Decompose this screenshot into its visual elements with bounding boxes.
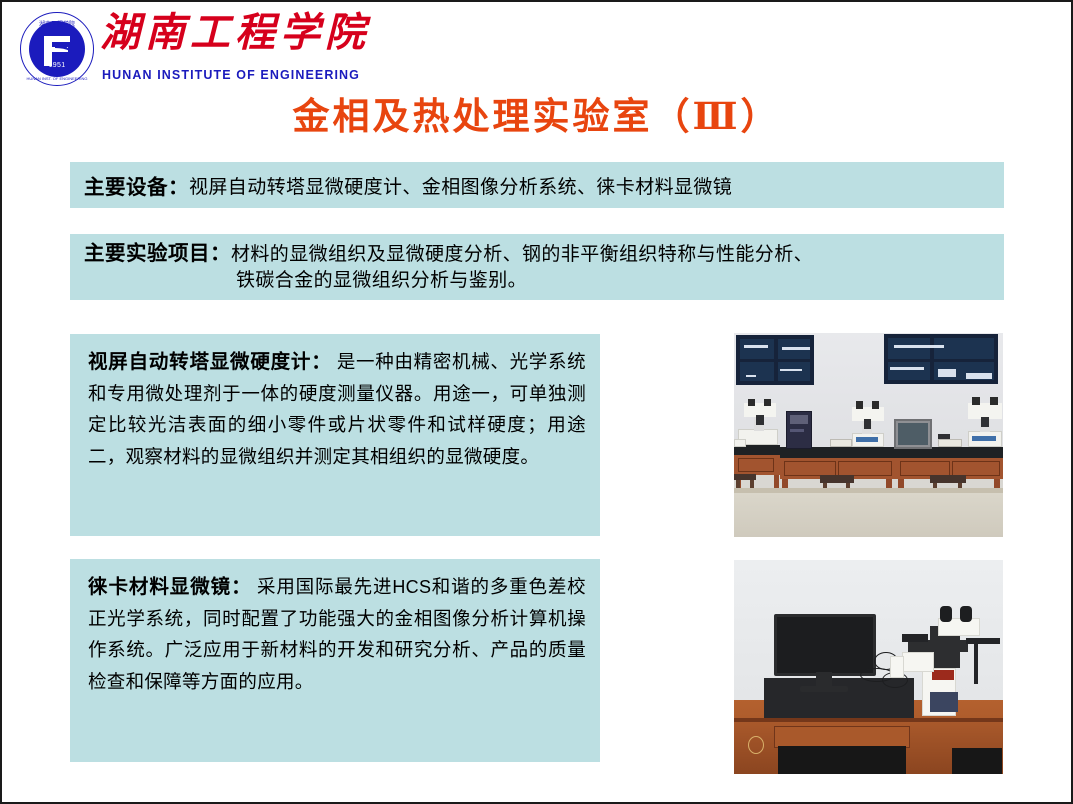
leica-label: 徕卡材料显微镜：: [88, 575, 252, 598]
seal-monogram-icon: 湖南工程学院 HUNAN INST. OF ENGINEERING: [20, 12, 94, 86]
logo-english-name: HUNAN INSTITUTE OF ENGINEERING: [102, 68, 360, 82]
main-projects-text-line2: 铁碳合金的显微组织分析与鉴别。: [236, 267, 994, 294]
leica-latin-text: HCS: [392, 577, 431, 597]
main-projects-label: 主要实验项目：: [84, 241, 231, 266]
main-equipment-box: 主要设备： 视屏自动转塔显微硬度计、金相图像分析系统、徕卡材料显微镜: [70, 162, 1004, 208]
main-equipment-label: 主要设备：: [84, 170, 189, 200]
main-projects-box: 主要实验项目： 材料的显微组织及显微硬度分析、钢的非平衡组织特称与性能分析、 铁…: [70, 234, 1004, 300]
lab-bench-photo: [734, 333, 1003, 537]
microscope-desk-photo: [734, 560, 1003, 774]
page-title: 金相及热处理实验室（Ⅲ）: [2, 94, 1071, 138]
leica-text-part1: 采用国际最先进: [257, 578, 392, 598]
seal-year-label: 1951: [20, 62, 94, 69]
leica-description-box: 徕卡材料显微镜： 采用国际最先进HCS和谐的多重色差校正光学系统，同时配置了功能…: [70, 559, 600, 762]
institution-logo: 湖南工程学院 HUNAN INST. OF ENGINEERING 1951 湖…: [14, 8, 344, 90]
svg-text:湖南工程学院: 湖南工程学院: [39, 20, 75, 28]
microhardness-label: 视屏自动转塔显微硬度计：: [88, 350, 332, 373]
microhardness-description-box: 视屏自动转塔显微硬度计： 是一种由精密机械、光学系统和专用微处理剂于一体的硬度测…: [70, 334, 600, 536]
logo-chinese-name: 湖南工程学院: [100, 10, 370, 56]
university-seal-icon: 湖南工程学院 HUNAN INST. OF ENGINEERING 1951: [20, 12, 94, 86]
slide-canvas: 湖南工程学院 HUNAN INST. OF ENGINEERING 1951 湖…: [0, 0, 1073, 804]
main-equipment-text: 视屏自动转塔显微硬度计、金相图像分析系统、徕卡材料显微镜: [189, 172, 732, 199]
main-projects-text-line1: 材料的显微组织及显微硬度分析、钢的非平衡组织特称与性能分析、: [231, 242, 813, 267]
svg-text:HUNAN INST. OF ENGINEERING: HUNAN INST. OF ENGINEERING: [27, 76, 88, 81]
